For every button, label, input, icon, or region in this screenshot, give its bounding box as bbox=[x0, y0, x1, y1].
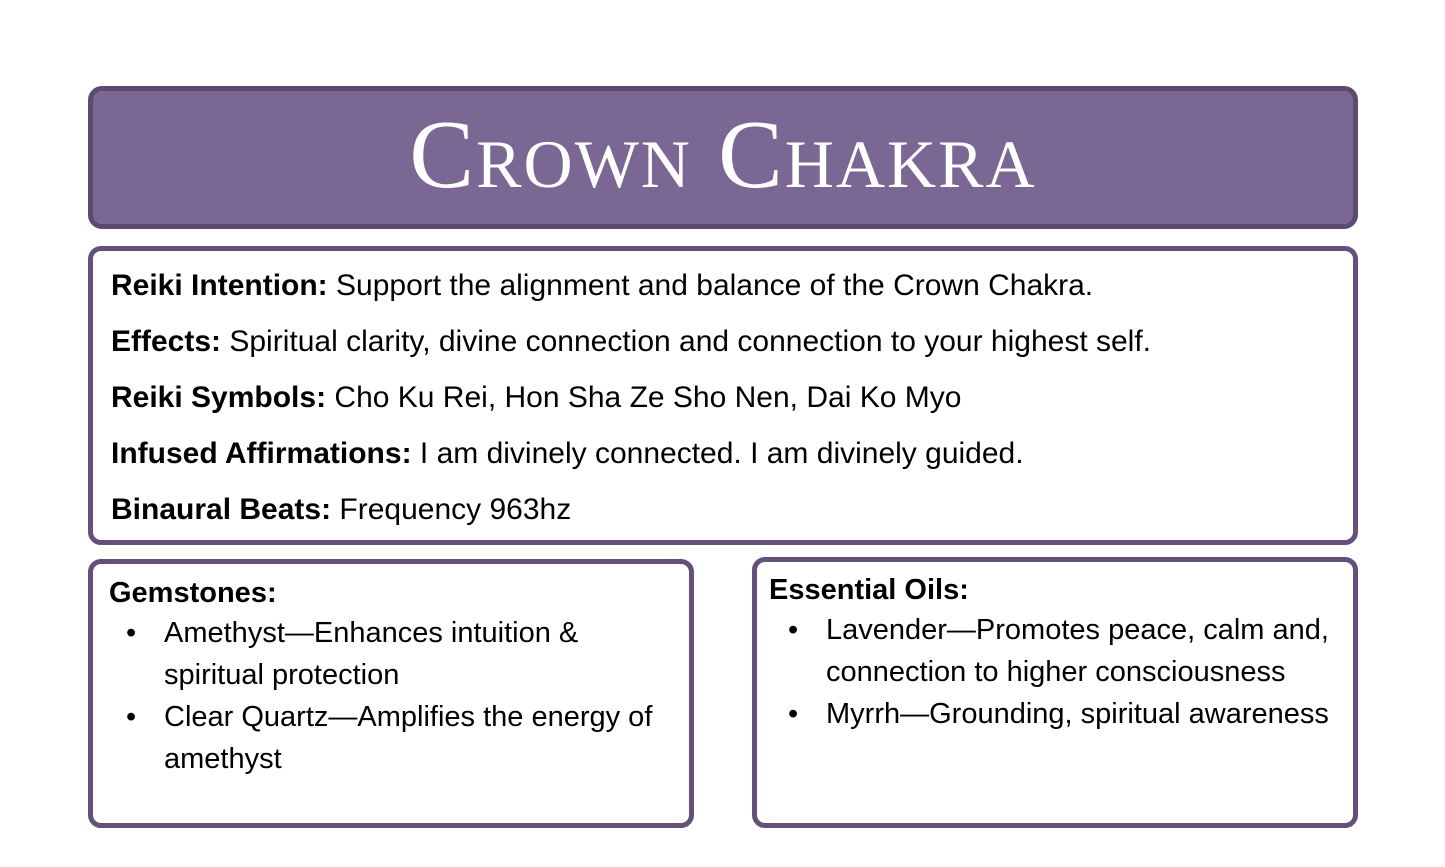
list-item: Lavender—Promotes peace, calm and, conne… bbox=[769, 609, 1339, 693]
gemstones-heading: Gemstones: bbox=[109, 576, 675, 610]
essential-oils-heading: Essential Oils: bbox=[769, 573, 1339, 607]
info-label: Reiki Symbols: bbox=[111, 381, 326, 414]
gemstones-list: Amethyst—Enhances intuition & spiritual … bbox=[109, 612, 675, 780]
info-value: I am divinely connected. I am divinely g… bbox=[412, 437, 1024, 470]
chakra-info-sheet: Crown Chakra Reiki Intention: Support th… bbox=[0, 0, 1445, 867]
list-item: Amethyst—Enhances intuition & spiritual … bbox=[109, 612, 675, 696]
info-value: Support the alignment and balance of the… bbox=[328, 269, 1093, 302]
info-value: Spiritual clarity, divine connection and… bbox=[221, 325, 1151, 358]
essential-oils-list: Lavender—Promotes peace, calm and, conne… bbox=[769, 609, 1339, 735]
info-value: Cho Ku Rei, Hon Sha Ze Sho Nen, Dai Ko M… bbox=[326, 381, 961, 414]
essential-oils-card: Essential Oils: Lavender—Promotes peace,… bbox=[752, 557, 1358, 828]
info-label: Effects: bbox=[111, 325, 221, 358]
info-value: Frequency 963hz bbox=[331, 493, 571, 526]
info-row-infused-affirmations: Infused Affirmations: I am divinely conn… bbox=[111, 439, 1335, 469]
info-row-binaural-beats: Binaural Beats: Frequency 963hz bbox=[111, 495, 1335, 525]
info-row-reiki-intention: Reiki Intention: Support the alignment a… bbox=[111, 271, 1335, 301]
list-item: Clear Quartz—Amplifies the energy of ame… bbox=[109, 696, 675, 780]
page-title: Crown Chakra bbox=[409, 106, 1036, 209]
info-row-reiki-symbols: Reiki Symbols: Cho Ku Rei, Hon Sha Ze Sh… bbox=[111, 383, 1335, 413]
reiki-info-card: Reiki Intention: Support the alignment a… bbox=[88, 246, 1358, 545]
info-row-effects: Effects: Spiritual clarity, divine conne… bbox=[111, 327, 1335, 357]
list-item: Myrrh—Grounding, spiritual awareness bbox=[769, 693, 1339, 735]
gemstones-card: Gemstones: Amethyst—Enhances intuition &… bbox=[88, 559, 694, 828]
header-banner: Crown Chakra bbox=[88, 86, 1358, 229]
info-label: Binaural Beats: bbox=[111, 493, 331, 526]
info-label: Reiki Intention: bbox=[111, 269, 328, 302]
info-label: Infused Affirmations: bbox=[111, 437, 412, 470]
